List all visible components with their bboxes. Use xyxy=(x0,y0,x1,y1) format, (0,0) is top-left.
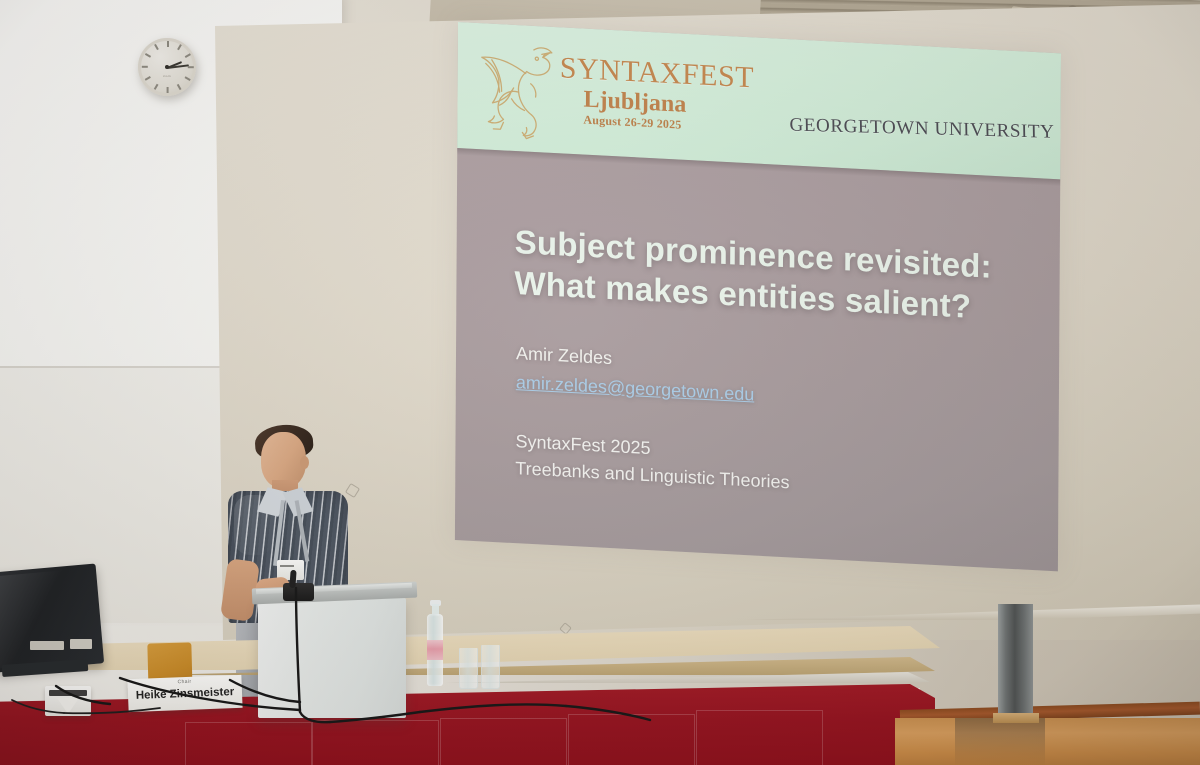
speaker-ear xyxy=(300,456,309,469)
dragon-outline-icon xyxy=(475,33,562,141)
wall-clock: clock xyxy=(138,38,196,96)
conference-photo-scene: clock xyxy=(0,0,1200,765)
clock-center-cap xyxy=(165,65,169,69)
georgetown-university-wordmark: GEORGETOWN UNIVERSITY xyxy=(789,114,1054,143)
syntaxfest-logo-lockup: SYNTAXFEST Ljubljana August 26-29 2025 xyxy=(475,29,726,154)
clock-brand-text: clock xyxy=(163,74,171,78)
projected-slide: SYNTAXFEST Ljubljana August 26-29 2025 G… xyxy=(455,22,1061,571)
projection-screen: SYNTAXFEST Ljubljana August 26-29 2025 G… xyxy=(205,4,1200,644)
cables xyxy=(0,560,1200,765)
